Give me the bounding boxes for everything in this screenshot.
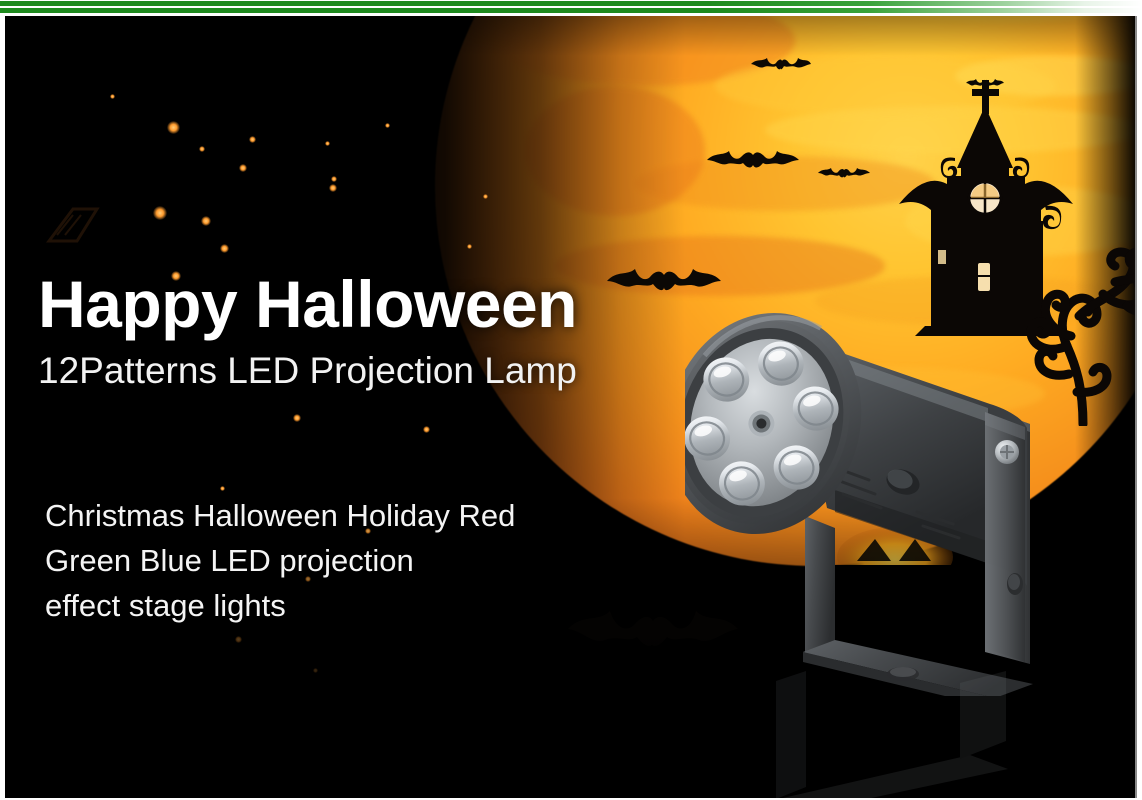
ember-particle [293,414,301,422]
ember-particle [329,184,337,192]
description-line: Christmas Halloween Holiday Red [45,494,685,539]
product-banner: Happy Halloween 12Patterns LED Projectio… [5,16,1137,798]
banner-image: Happy Halloween 12Patterns LED Projectio… [0,0,1142,800]
top-vignette [5,16,1135,56]
ember-particle [199,146,205,152]
watermark-logo [43,201,133,256]
bat-silhouette [750,54,812,76]
page-title: Happy Halloween [38,271,678,338]
ember-particle [483,194,488,199]
bat-silhouette [817,164,871,184]
ember-particle [385,123,390,128]
ember-particle [220,486,225,491]
accent-stripe-lower [0,8,1142,13]
ember-particle [110,94,115,99]
ember-particle [167,121,180,134]
ember-particle [153,206,167,220]
ember-particle [201,216,211,226]
top-accent-band [0,0,1142,14]
bat-silhouette [965,76,1005,92]
description-line: effect stage lights [45,584,685,629]
bat-silhouette [705,144,801,178]
ember-particle [423,426,430,433]
subtitle: 12Patterns LED Projection Lamp [38,352,678,391]
ember-particle [220,244,229,253]
ember-particle [325,141,330,146]
ember-particle [331,176,337,182]
headline-block: Happy Halloween 12Patterns LED Projectio… [38,271,678,391]
ember-particle [467,244,472,249]
ember-particle [239,164,247,172]
led-projection-lamp [685,216,1065,696]
ember-particle [249,136,256,143]
description-block: Christmas Halloween Holiday Red Green Bl… [45,494,685,629]
description-line: Green Blue LED projection [45,539,685,584]
product-reflection [760,671,1100,798]
